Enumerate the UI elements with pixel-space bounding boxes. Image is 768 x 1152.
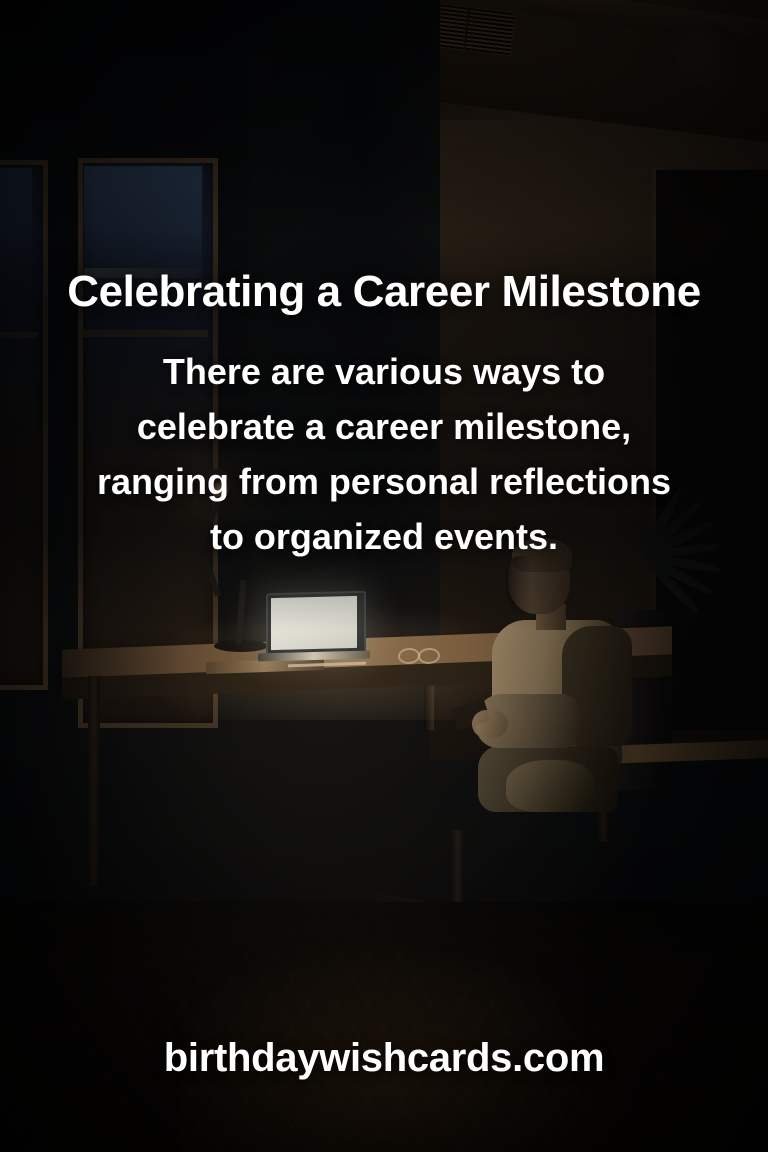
card-title: Celebrating a Career Milestone [0, 268, 768, 316]
career-milestone-card: Celebrating a Career Milestone There are… [0, 0, 768, 1152]
text-overlay: Celebrating a Career Milestone There are… [0, 0, 768, 1152]
site-watermark: birthdaywishcards.com [0, 1036, 768, 1081]
card-body-text: There are various ways to celebrate a ca… [96, 344, 672, 564]
